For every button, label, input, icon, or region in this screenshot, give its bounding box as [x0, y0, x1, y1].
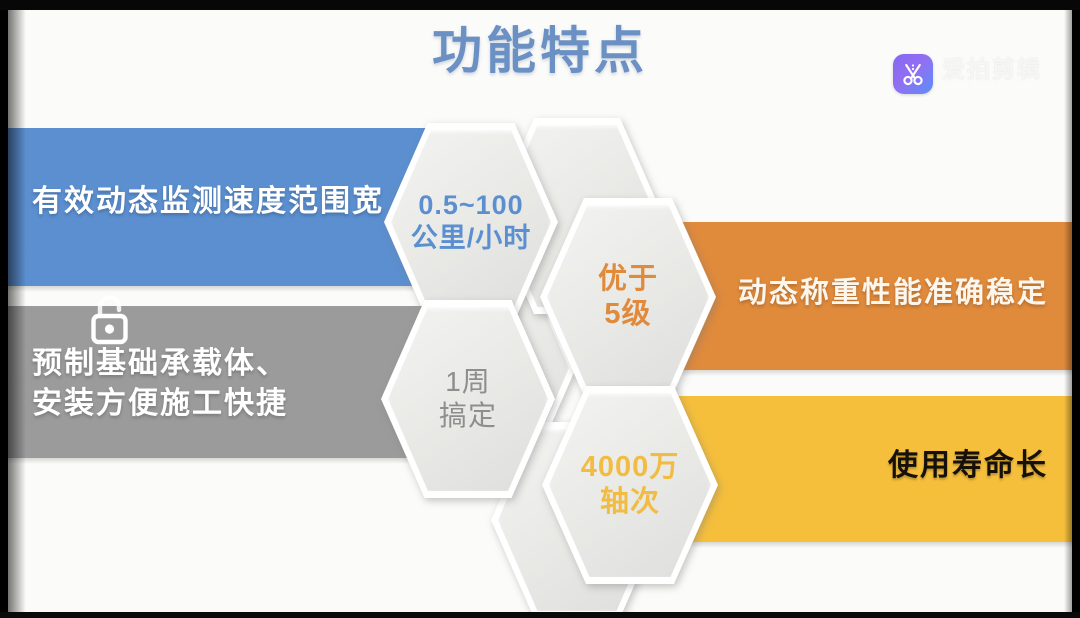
watermark: 爱拍剪辑 AIPAI JIANJI.COM — [893, 54, 1042, 94]
bar-shadow-speed — [8, 286, 428, 292]
watermark-app-name: 爱拍剪辑 — [942, 57, 1042, 81]
presentation-slide: 功能特点 有效动态监测速度范围宽 0.5~100 公里/小时 — [8, 8, 1072, 612]
video-frame: 功能特点 有效动态监测速度范围宽 0.5~100 公里/小时 — [0, 0, 1080, 618]
feature-label-lifespan: 使用寿命长 — [888, 448, 1072, 485]
metric-hexagon-speed[interactable] — [384, 123, 558, 321]
metric-hexagon-lifespan[interactable] — [542, 386, 718, 584]
metric-hexagon-accuracy[interactable] — [540, 198, 716, 396]
feature-label-install-line2: 安装方便施工快捷 — [32, 386, 412, 423]
metric-hexagon-install[interactable] — [381, 300, 555, 498]
bar-shadow-install — [8, 458, 428, 464]
feature-label-accuracy: 动态称重性能准确稳定 — [738, 276, 1068, 311]
unlock-icon — [86, 292, 132, 350]
frame-edge-bottom — [0, 612, 1080, 618]
scissors-icon — [893, 54, 933, 94]
feature-label-install-line1: 预制基础承载体、 — [32, 346, 412, 383]
watermark-subtext: AIPAI JIANJI.COM — [942, 81, 1042, 92]
feature-label-speed: 有效动态监测速度范围宽 — [32, 184, 402, 221]
